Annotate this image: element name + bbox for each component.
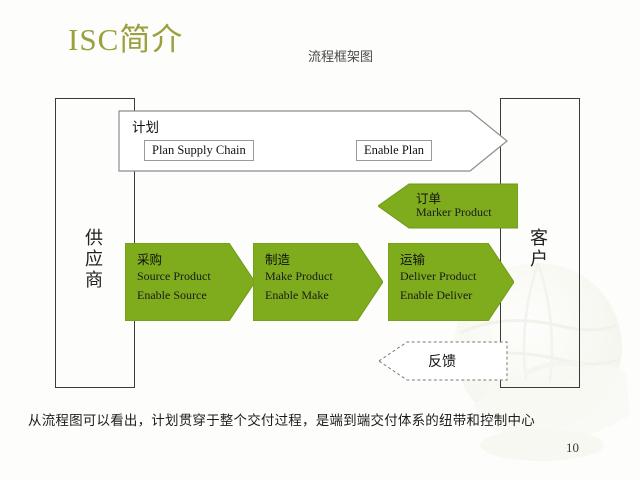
slide-canvas: ISC简介 流程框架图 供 应 商 客 户 计划 Plan Supply Cha… xyxy=(0,0,640,480)
supplier-label-char-1: 供 xyxy=(82,228,106,249)
page-title: ISC简介 xyxy=(68,14,183,59)
process-arrow-deliver-shape xyxy=(388,243,514,321)
supplier-label: 供 应 商 xyxy=(82,228,106,292)
process-arrow-make: 制造 Make Product Enable Make xyxy=(253,243,383,321)
plan-band-arrow: 计划 Plan Supply Chain Enable Plan xyxy=(118,110,508,172)
order-flow-shape xyxy=(378,183,518,229)
feedback-arrow-shape xyxy=(378,340,508,382)
supplier-label-char-3: 商 xyxy=(82,270,106,291)
process-arrow-source-shape xyxy=(125,243,255,321)
plan-band-shape xyxy=(118,110,508,172)
page-number: 10 xyxy=(566,440,579,456)
diagram-subtitle: 流程框架图 xyxy=(308,46,373,65)
customer-label-char-2: 户 xyxy=(527,249,551,270)
customer-label: 客 户 xyxy=(527,228,551,270)
order-flow-arrow: 订单 Marker Product xyxy=(378,183,518,229)
slide-caption: 从流程图可以看出，计划贯穿于整个交付过程，是端到端交付体系的纽带和控制中心 xyxy=(28,409,535,429)
process-arrow-make-shape xyxy=(253,243,383,321)
customer-label-char-1: 客 xyxy=(527,228,551,249)
feedback-arrow: 反馈 xyxy=(378,340,508,382)
process-arrow-source: 采购 Source Product Enable Source xyxy=(125,243,255,321)
supplier-label-char-2: 应 xyxy=(82,249,106,270)
process-arrow-deliver: 运输 Deliver Product Enable Deliver xyxy=(388,243,514,321)
